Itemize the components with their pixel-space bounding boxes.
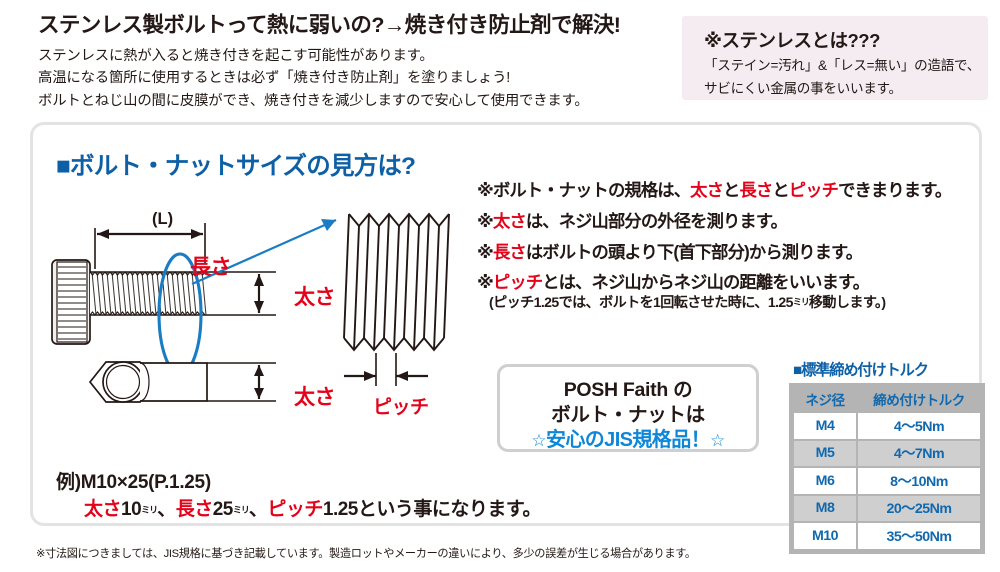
bullet-item-4: ※ピッチとは、ネジ山からネジ山の距離をいいます。 <box>477 274 992 291</box>
arrow-head-down-2 <box>254 388 264 399</box>
stainless-info-title: ※ステンレスとは??? <box>704 27 880 53</box>
torque-table-block: ■標準締め付けトルク ネジ径 締め付けトルク M4 4〜5Nm M5 <box>789 358 985 524</box>
cell-size: M8 <box>794 496 856 522</box>
cell-size: M6 <box>794 468 856 494</box>
bullet-4-hl-1: ピッチ <box>493 272 542 292</box>
length-dimension-lines <box>95 223 205 269</box>
bullet-1-mid-1: と <box>723 180 739 200</box>
example-value-futosa: 10 <box>121 499 141 520</box>
example-tail: という事になります。 <box>358 499 541 520</box>
bullet-3-hl-1: 長さ <box>493 242 526 262</box>
stainless-info-box: ※ステンレスとは??? 「ステイン=汚れ」&「レス=無い」の造語で、 サビにくい… <box>682 16 988 100</box>
footnote: ※寸法図につきましては、JIS規格に基づき記載しています。製造ロットやメーカーの… <box>36 545 696 561</box>
example-sep-1: 、 <box>157 499 176 520</box>
arrow-head-down <box>254 301 264 313</box>
pitch-flanks <box>344 214 449 350</box>
example-value-pitch: 1.25 <box>323 499 358 520</box>
hex-nut <box>90 362 207 402</box>
bullet-3-prefix: ※ <box>477 242 493 262</box>
column-header-torque: 締め付けトルク <box>858 388 980 411</box>
top-description: ステンレスに熱が入ると焼き付きを起こす可能性があります。 高温になる箇所に使用す… <box>38 45 668 113</box>
arrow-head-up <box>254 274 264 286</box>
example-line-1: 例)M10×25(P.1.25) <box>56 467 211 494</box>
example-label-nagasa: 長さ <box>176 499 213 520</box>
bolt-head <box>52 260 90 344</box>
bullet-1-mid-2: と <box>772 180 788 200</box>
table-row: M4 4〜5Nm <box>794 413 980 439</box>
thread-pitch-detail <box>344 214 449 386</box>
nut-diameter-extension-lines <box>207 363 276 401</box>
top-description-line-1: ステンレスに熱が入ると焼き付きを起こす可能性があります。 <box>38 45 668 68</box>
stainless-info-line-1: 「ステイン=汚れ」&「レス=無い」の造語で、 <box>704 54 980 74</box>
cell-torque: 8〜10Nm <box>858 468 980 494</box>
table-row: M8 20〜25Nm <box>794 496 980 522</box>
label-pitch: ピッチ <box>373 392 429 419</box>
cell-torque: 4〜7Nm <box>858 441 980 467</box>
bullet-3-suffix: はボルトの頭より下(首下部分)から測ります。 <box>526 242 862 262</box>
table-header-row: ネジ径 締め付けトルク <box>794 388 980 411</box>
pitch-dimension-lines <box>376 353 396 386</box>
label-futosa-nut: 太さ <box>294 381 335 411</box>
bullet-sub-unit: ミリ <box>793 297 809 307</box>
posh-faith-callout: POSH Faith の ボルト・ナットは ☆安心のJIS規格品！☆ <box>497 364 759 452</box>
bullet-1-hl-1: 太さ <box>690 180 723 200</box>
example-line-2: 太さ10ミリ、長さ25ミリ、ピッチ1.25という事になります。 <box>84 494 541 521</box>
bullet-sub-note: (ピッチ1.25では、ボルトを1回転させた時に、1.25ミリ移動します。) <box>489 292 992 312</box>
bullet-item-3: ※長さはボルトの頭より下(首下部分)から測ります。 <box>477 244 992 261</box>
label-nagasa: 長さ <box>190 251 231 281</box>
arrow-head-right <box>191 229 203 239</box>
bullet-2-suffix: は、ネジ山部分の外径を測ります。 <box>526 211 787 231</box>
spec-bullet-list: ※ボルト・ナットの規格は、太さと長さとピッチできまります。 ※太さは、ネジ山部分… <box>477 182 992 312</box>
bullet-2-hl-1: 太さ <box>493 211 526 231</box>
example-unit-2: ミリ <box>233 505 249 515</box>
label-overall-length: (L) <box>152 210 173 229</box>
bullet-1-prefix: ※ボルト・ナットの規格は、 <box>477 180 690 200</box>
cell-size: M10 <box>794 523 856 549</box>
bullet-1-suffix: できまります。 <box>838 180 951 200</box>
bullet-item-2: ※太さは、ネジ山部分の外径を測ります。 <box>477 213 992 230</box>
pitch-arrow-right <box>364 371 376 381</box>
cell-torque: 35〜50Nm <box>858 523 980 549</box>
arrow-head-left <box>97 229 109 239</box>
table-row: M10 35〜50Nm <box>794 523 980 549</box>
top-header: ステンレス製ボルトって熱に弱いの?→焼き付き防止剤で解決! ステンレスに熱が入る… <box>38 14 668 112</box>
example-value-nagasa: 25 <box>213 499 233 520</box>
arrow-head-up-2 <box>254 365 264 376</box>
bullet-2-prefix: ※ <box>477 211 493 231</box>
cell-torque: 4〜5Nm <box>858 413 980 439</box>
table-row: M5 4〜7Nm <box>794 441 980 467</box>
posh-line-3: 安心のJIS規格品！ <box>546 429 710 451</box>
example-label-futosa: 太さ <box>84 499 121 520</box>
cell-size: M4 <box>794 413 856 439</box>
pitch-arrow-left <box>396 371 408 381</box>
example-unit-1: ミリ <box>141 505 157 515</box>
stainless-info-line-2: サビにくい金属の事をいいます。 <box>704 77 902 97</box>
example-sep-2: 、 <box>249 499 268 520</box>
example-label-pitch: ピッチ <box>267 499 323 520</box>
bullet-4-suffix: とは、ネジ山からネジ山の距離をいいます。 <box>542 272 869 292</box>
card-heading: ■ボルト・ナットサイズの見方は? <box>56 147 415 182</box>
star-icon-left: ☆ <box>531 431 546 450</box>
torque-table-frame: ネジ径 締め付けトルク M4 4〜5Nm M5 4〜7Nm M6 <box>789 383 985 554</box>
bullet-4-prefix: ※ <box>477 272 493 292</box>
top-description-line-3: ボルトとねじ山の間に皮膜ができ、焼き付きを減少しますので安心して使用できます。 <box>38 90 668 113</box>
posh-line-3-wrapper: ☆安心のJIS規格品！☆ <box>500 423 756 452</box>
cell-size: M5 <box>794 441 856 467</box>
infographic-page: ステンレス製ボルトって熱に弱いの?→焼き付き防止剤で解決! ステンレスに熱が入る… <box>0 0 1000 572</box>
torque-table: ネジ径 締め付けトルク M4 4〜5Nm M5 4〜7Nm M6 <box>792 386 982 551</box>
page-title: ステンレス製ボルトって熱に弱いの?→焼き付き防止剤で解決! <box>38 14 668 38</box>
bullet-item-1: ※ボルト・ナットの規格は、太さと長さとピッチできまります。 <box>477 182 992 199</box>
cell-torque: 20〜25Nm <box>858 496 980 522</box>
torque-table-title: ■標準締め付けトルク <box>793 358 985 380</box>
column-header-size: ネジ径 <box>794 388 856 411</box>
star-icon-right: ☆ <box>710 431 725 450</box>
top-description-line-2: 高温になる箇所に使用するときは必ず「焼き付き防止剤」を塗りましょう! <box>38 67 668 90</box>
table-row: M6 8〜10Nm <box>794 468 980 494</box>
label-futosa-bolt: 太さ <box>294 281 335 311</box>
bullet-1-hl-3: ピッチ <box>789 180 838 200</box>
bullet-1-hl-2: 長さ <box>739 180 772 200</box>
bullet-sub-part-1: (ピッチ1.25では、ボルトを1回転させた時に、1.25 <box>489 294 793 310</box>
pitch-crest-top <box>349 214 449 226</box>
bullet-sub-part-2: 移動します。) <box>809 294 886 310</box>
bolt-nut-diagram: (L) 長さ 太さ 太さ ピッチ <box>44 196 474 446</box>
